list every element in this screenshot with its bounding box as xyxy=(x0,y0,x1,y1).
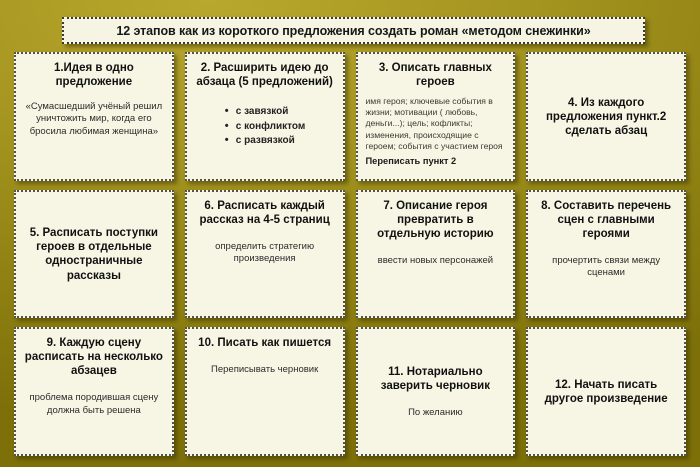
step-card-10-body: Переписывать черновик xyxy=(195,364,335,376)
step-card-11-body: По желанию xyxy=(366,407,506,419)
step-card-5-heading: 5. Расписать поступки героев в отдельные… xyxy=(24,226,164,282)
step-card-6[interactable]: 6. Расписать каждый рассказ на 4-5 стран… xyxy=(185,190,345,319)
step-card-9-body: проблема породившая сцену должна быть ре… xyxy=(24,392,164,417)
poster-title-text: 12 этапов как из короткого предложения с… xyxy=(116,24,590,38)
step-card-5[interactable]: 5. Расписать поступки героев в отдельные… xyxy=(14,190,174,319)
poster-canvas: 12 этапов как из короткого предложения с… xyxy=(0,0,700,467)
step-card-3-body: имя героя; ключевые события в жизни; мот… xyxy=(366,96,506,152)
step-card-11-heading: 11. Нотариально заверить черновик xyxy=(366,365,506,393)
steps-grid: 1.Идея в одно предложение «Сумасшедший у… xyxy=(14,52,686,456)
step-card-8-heading: 8. Составить перечень сцен с главными ге… xyxy=(536,199,676,241)
step-card-4[interactable]: 4. Из каждого предложения пункт.2 сделат… xyxy=(526,52,686,181)
step-card-9[interactable]: 9. Каждую сцену расписать на несколько а… xyxy=(14,327,174,456)
step-card-2[interactable]: 2. Расширить идею до абзаца (5 предложен… xyxy=(185,52,345,181)
step-card-1[interactable]: 1.Идея в одно предложение «Сумасшедший у… xyxy=(14,52,174,181)
step-card-3-heading: 3. Описать главных героев xyxy=(366,61,506,89)
step-card-10[interactable]: 10. Писать как пишется Переписывать черн… xyxy=(185,327,345,456)
step-card-2-bullet-3: с развязкой xyxy=(225,134,335,149)
step-card-12[interactable]: 12. Начать писать другое произведение xyxy=(526,327,686,456)
step-card-11[interactable]: 11. Нотариально заверить черновик По жел… xyxy=(356,327,516,456)
step-card-1-heading: 1.Идея в одно предложение xyxy=(24,61,164,89)
step-card-2-bullet-list: с завязкой с конфликтом с развязкой xyxy=(195,105,335,149)
step-card-6-heading: 6. Расписать каждый рассказ на 4-5 стран… xyxy=(195,199,335,227)
step-card-9-heading: 9. Каждую сцену расписать на несколько а… xyxy=(24,336,164,378)
poster-title-banner: 12 этапов как из короткого предложения с… xyxy=(62,17,645,44)
step-card-8-body: прочертить связи между сценами xyxy=(536,255,676,280)
step-card-8[interactable]: 8. Составить перечень сцен с главными ге… xyxy=(526,190,686,319)
step-card-2-bullet-1: с завязкой xyxy=(225,105,335,120)
step-card-3-footnote: Переписать пункт 2 xyxy=(366,156,506,166)
step-card-1-body: «Сумасшедший учёный решил уничтожить мир… xyxy=(24,101,164,138)
step-card-10-heading: 10. Писать как пишется xyxy=(195,336,335,350)
step-card-6-body: определить стратегию произведения xyxy=(195,241,335,266)
step-card-7-body: ввести новых персонажей xyxy=(366,255,506,267)
step-card-12-heading: 12. Начать писать другое произведение xyxy=(536,378,676,406)
step-card-3[interactable]: 3. Описать главных героев имя героя; клю… xyxy=(356,52,516,181)
step-card-2-heading: 2. Расширить идею до абзаца (5 предложен… xyxy=(195,61,335,89)
step-card-4-heading: 4. Из каждого предложения пункт.2 сделат… xyxy=(536,96,676,138)
step-card-7-heading: 7. Описание героя превратить в отдельную… xyxy=(366,199,506,241)
step-card-2-bullet-2: с конфликтом xyxy=(225,120,335,135)
step-card-7[interactable]: 7. Описание героя превратить в отдельную… xyxy=(356,190,516,319)
